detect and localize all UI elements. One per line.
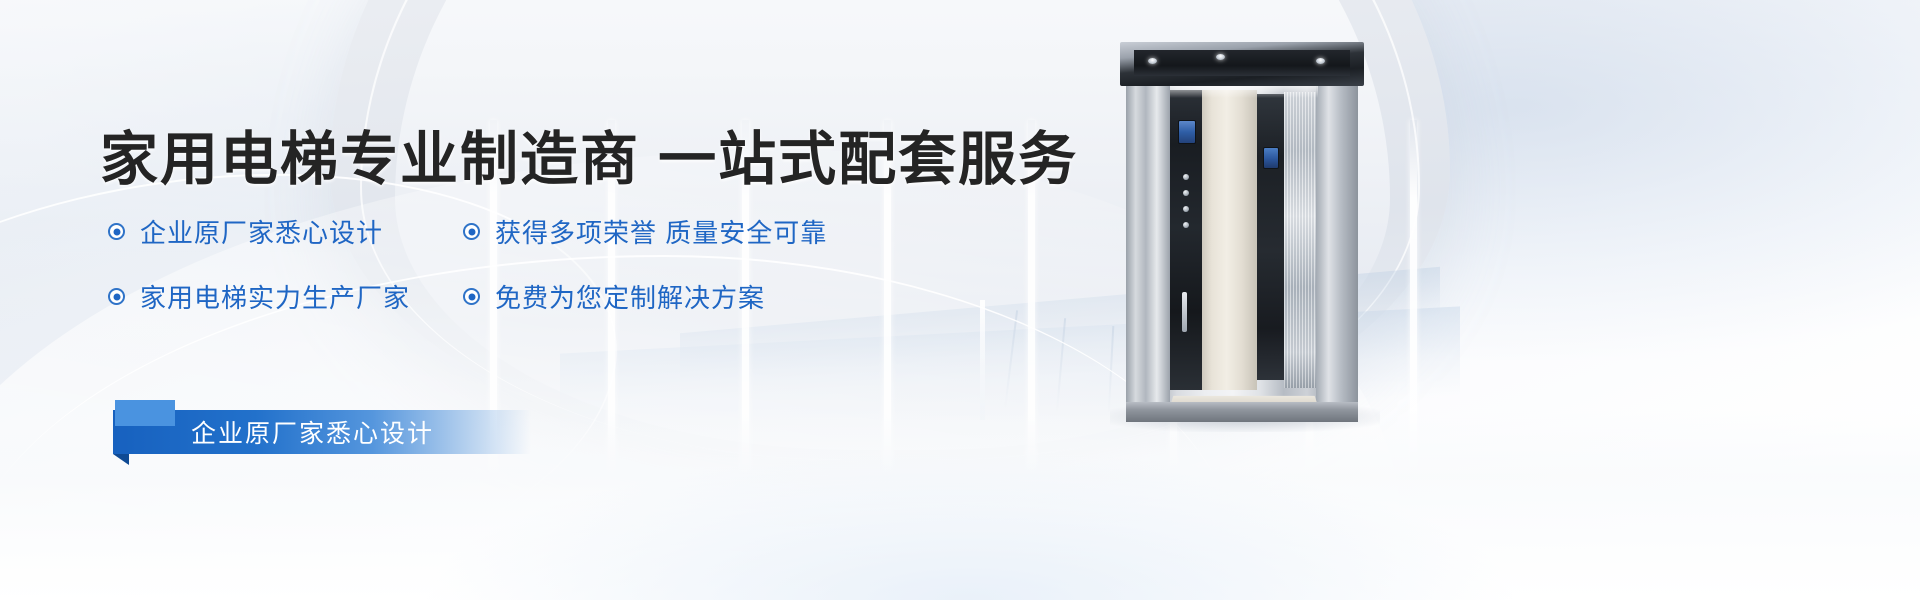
feature-label: 获得多项荣誉 质量安全可靠 [495,213,827,250]
bullet-dot-icon [108,288,125,305]
elevator-dark-door-panel-2 [1257,94,1284,380]
elevator-left-jamb [1126,84,1170,402]
feature-label: 免费为您定制解决方案 [495,278,765,315]
elevator-ceiling-light-icon [1316,58,1325,64]
elevator-glass-reflection [1284,92,1318,388]
feature-label: 家用电梯实力生产厂家 [140,278,410,315]
elevator-ceiling-light-icon [1216,54,1225,60]
ribbon-fold-notch [113,454,129,465]
feature-item: 免费为您定制解决方案 [463,278,765,315]
highlight-ribbon[interactable]: 企业原厂家悉心设计 [113,410,531,454]
bullet-dot-icon [463,223,480,240]
promo-banner: 家用电梯专业制造商 一站式配套服务 企业原厂家悉心设计 获得多项荣誉 质量安全可… [0,0,1920,600]
elevator-interior-panel [1202,90,1257,390]
feature-row: 企业原厂家悉心设计 获得多项荣誉 质量安全可靠 [108,213,928,250]
feature-item: 企业原厂家悉心设计 [108,213,463,250]
elevator-display-screen-2 [1263,147,1279,169]
elevator-base-sill [1126,402,1358,422]
feature-label: 企业原厂家悉心设计 [140,213,383,250]
bullet-dot-icon [463,288,480,305]
elevator-right-jamb [1316,84,1358,402]
elevator-button-icon [1183,222,1189,228]
elevator-button-icon [1183,174,1189,180]
elevator-ceiling-reflection [1170,86,1318,98]
elevator-ceiling-light-icon [1148,58,1157,64]
elevator-display-screen [1178,120,1196,144]
elevator-button-icon [1183,190,1189,196]
feature-row: 家用电梯实力生产厂家 免费为您定制解决方案 [108,278,928,315]
feature-list: 企业原厂家悉心设计 获得多项荣誉 质量安全可靠 家用电梯实力生产厂家 免费为您定… [108,213,928,343]
elevator-product-image [1120,42,1364,420]
elevator-handrail [1182,292,1187,332]
elevator-button-icon [1183,206,1189,212]
ribbon-label: 企业原厂家悉心设计 [191,414,434,450]
banner-content: 家用电梯专业制造商 一站式配套服务 企业原厂家悉心设计 获得多项荣誉 质量安全可… [0,0,1100,600]
feature-item: 家用电梯实力生产厂家 [108,278,463,315]
page-title: 家用电梯专业制造商 一站式配套服务 [100,112,1078,196]
ribbon-flag-accent [115,400,175,426]
feature-item: 获得多项荣誉 质量安全可靠 [463,213,827,250]
bullet-dot-icon [108,223,125,240]
